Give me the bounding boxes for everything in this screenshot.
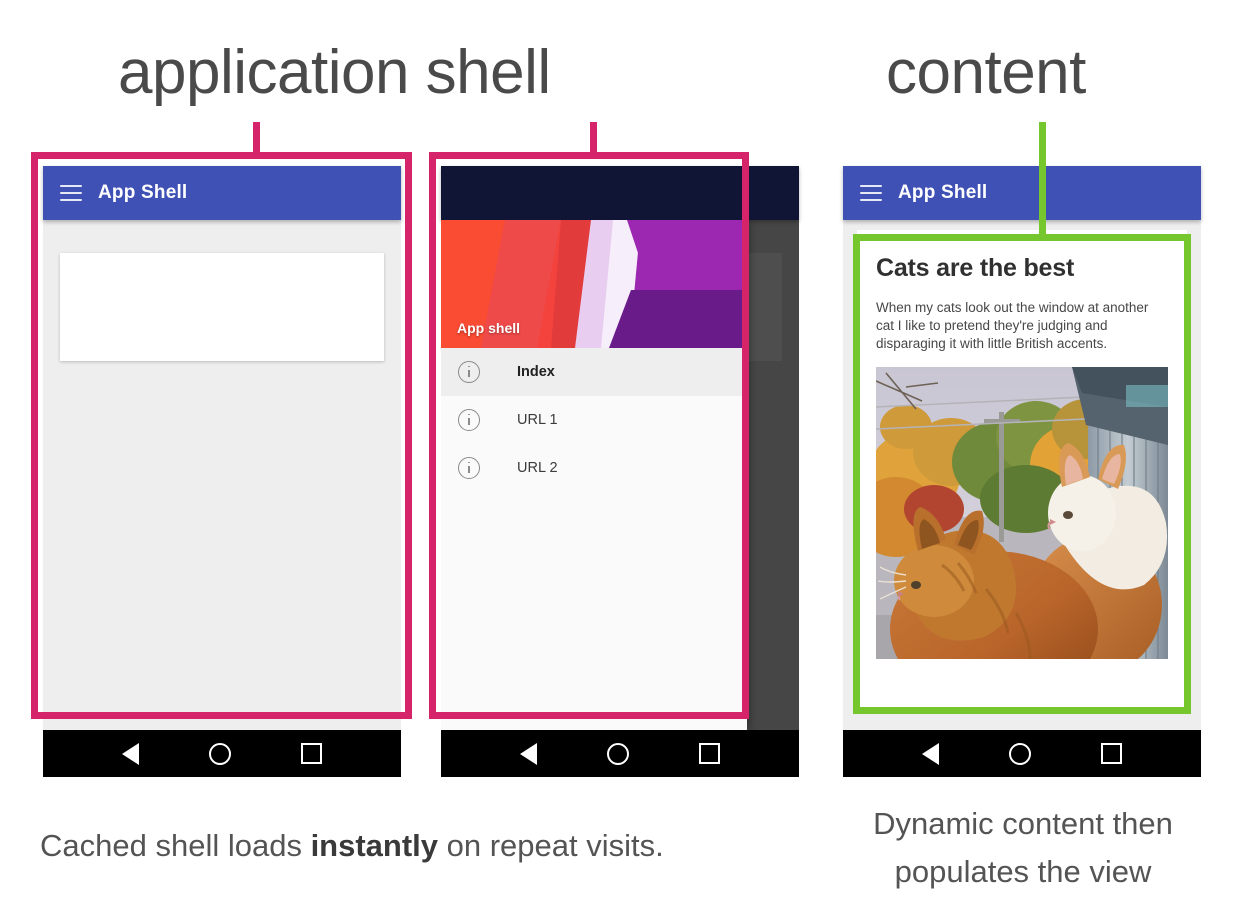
article-photo — [876, 367, 1168, 659]
drawer-header: App shell — [441, 220, 747, 348]
connector-line-shell-left — [253, 122, 260, 156]
drawer-item-url-1[interactable]: URL 1 — [441, 396, 747, 444]
drawer-item-index[interactable]: Index — [441, 348, 747, 396]
info-icon — [458, 361, 480, 383]
phone-screen — [43, 220, 401, 730]
android-nav-bar — [441, 730, 799, 777]
placeholder-card — [60, 253, 384, 361]
android-nav-bar — [843, 730, 1201, 777]
cats-in-window-photo — [876, 367, 1168, 659]
home-circle-icon[interactable] — [607, 743, 629, 765]
app-bar-title: App Shell — [898, 182, 987, 204]
phone-screen: Cats are the best When my cats look out … — [843, 220, 1201, 730]
recents-square-icon[interactable] — [699, 743, 720, 764]
info-icon — [458, 457, 480, 479]
connector-line-shell-right — [590, 122, 597, 156]
info-icon — [458, 409, 480, 431]
phone-mock-app-shell-empty: App Shell — [43, 166, 401, 777]
caption-right-line-1: Dynamic content then — [838, 800, 1208, 848]
app-bar-dimmed: App Shell — [441, 166, 799, 220]
annotation-title-application-shell: application shell — [118, 42, 551, 104]
back-triangle-icon[interactable] — [520, 743, 537, 765]
recents-square-icon[interactable] — [1101, 743, 1122, 764]
caption-left-part1: Cached shell loads — [40, 828, 311, 863]
article-body: When my cats look out the window at anot… — [876, 299, 1168, 353]
home-circle-icon[interactable] — [209, 743, 231, 765]
drawer-item-label: Index — [517, 364, 555, 380]
drawer-item-list: Index URL 1 URL 2 — [441, 348, 747, 492]
back-triangle-icon[interactable] — [922, 743, 939, 765]
drawer-item-label: URL 1 — [517, 412, 558, 428]
phone-screen-scrim: App shell Index URL 1 URL 2 — [441, 220, 799, 730]
back-triangle-icon[interactable] — [122, 743, 139, 765]
app-bar: App Shell — [43, 166, 401, 220]
caption-right: Dynamic content then populates the view — [838, 800, 1208, 896]
drawer-item-label: URL 2 — [517, 460, 558, 476]
diagram-canvas: application shell content App Shell App … — [0, 0, 1249, 923]
hamburger-icon[interactable] — [860, 185, 882, 201]
caption-left: Cached shell loads instantly on repeat v… — [40, 828, 664, 864]
phone-mock-drawer-open: App Shell — [441, 166, 799, 777]
phone-mock-content-loaded: App Shell Cats are the best When my cats… — [843, 166, 1201, 777]
connector-line-content — [1039, 122, 1046, 238]
caption-right-line-2: populates the view — [838, 848, 1208, 896]
drawer-header-label: App shell — [457, 320, 520, 336]
android-nav-bar — [43, 730, 401, 777]
navigation-drawer: App shell Index URL 1 URL 2 — [441, 220, 747, 730]
home-circle-icon[interactable] — [1009, 743, 1031, 765]
app-bar: App Shell — [843, 166, 1201, 220]
caption-left-emphasis: instantly — [311, 828, 438, 863]
hamburger-icon[interactable] — [60, 185, 82, 201]
caption-left-part2: on repeat visits. — [438, 828, 664, 863]
article-card: Cats are the best When my cats look out … — [857, 230, 1187, 710]
article-heading: Cats are the best — [876, 254, 1168, 283]
annotation-title-content: content — [886, 42, 1086, 104]
recents-square-icon[interactable] — [301, 743, 322, 764]
drawer-item-url-2[interactable]: URL 2 — [441, 444, 747, 492]
app-bar-title: App Shell — [98, 182, 187, 204]
